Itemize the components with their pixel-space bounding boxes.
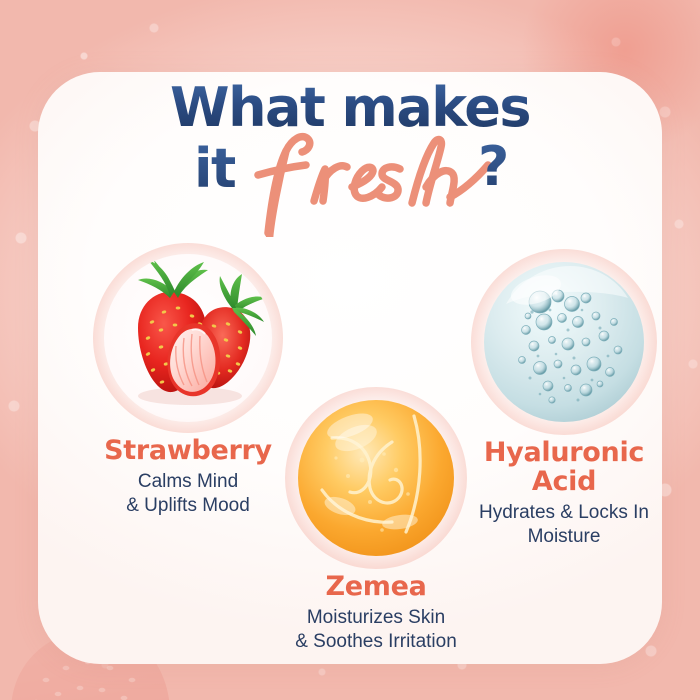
headline-script-fresh-icon [252,117,502,237]
hyaluronic-image-wrap [482,260,646,424]
headline-block: What makes it [38,80,662,225]
zemea-desc-line-2: & Soothes Irritation [250,630,502,654]
headline-word-it: it [194,137,235,200]
strawberry-image-wrap [104,254,272,422]
zemea-name: Zemea [250,572,502,601]
hyaluronic-gel-sphere-photo [482,260,646,424]
zemea-image-wrap [296,398,456,558]
content-card: What makes it [38,72,662,664]
strawberry-photo [104,254,272,422]
headline-line-2: it [38,133,662,225]
headline-question-mark: ? [478,135,509,198]
zemea-desc: Moisturizes Skin & Soothes Irritation [250,606,502,654]
zemea-desc-line-1: Moisturizes Skin [250,606,502,630]
ingredient-zemea: Zemea Moisturizes Skin & Soothes Irritat… [250,398,502,654]
zemea-amber-gel-droplet-photo [296,398,456,558]
infographic-canvas: What makes it [0,0,700,700]
